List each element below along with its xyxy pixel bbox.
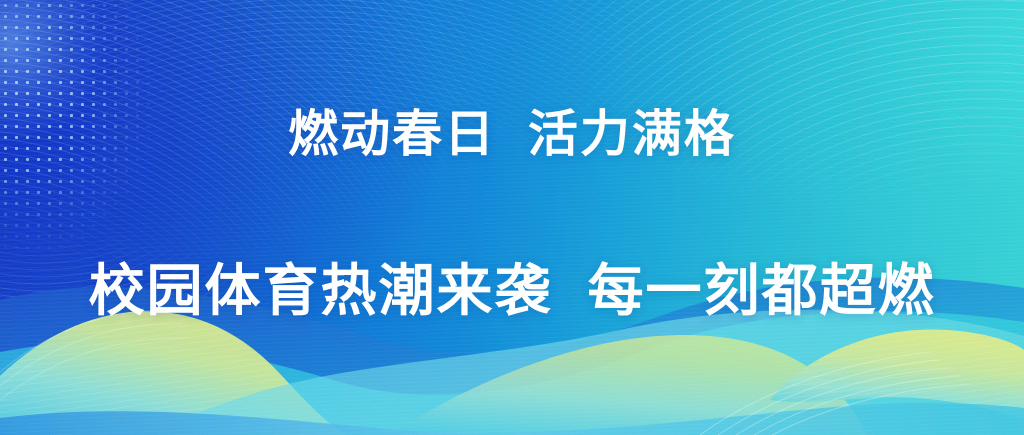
promo-banner: 燃动春日 活力满格 校园体育热潮来袭 每一刻都超燃 <box>0 0 1024 435</box>
wave-deep-blue <box>0 277 1024 435</box>
wave-decoration-group <box>0 0 1024 435</box>
wave-center-pale <box>150 310 1024 435</box>
headline-line-2: 校园体育热潮来袭 每一刻都超燃 <box>0 259 1024 323</box>
arc-lines-top-right-icon <box>0 0 1024 435</box>
headline-line-1: 燃动春日 活力满格 <box>0 106 1024 164</box>
cyan-glow <box>0 0 1024 435</box>
grain-texture <box>0 0 1024 435</box>
headline-group: 燃动春日 活力满格 校园体育热潮来袭 每一刻都超燃 <box>0 0 1024 435</box>
wave-arc-accents <box>700 352 970 435</box>
corner-glow <box>0 0 1024 435</box>
arc-lines-top-left-icon <box>0 0 1024 435</box>
wave-crest-center <box>390 335 868 435</box>
background-gradient <box>0 0 1024 435</box>
dot-matrix-icon <box>0 0 1024 435</box>
deep-blue-glow <box>0 0 1024 435</box>
wave-crest-right-texture <box>770 330 1024 420</box>
wave-bottom-band <box>0 403 1024 435</box>
wave-mid-cyan <box>0 311 1024 435</box>
scanline-texture <box>0 0 1024 435</box>
wave-crest-right <box>770 330 1024 420</box>
wave-crest-left <box>0 311 346 435</box>
arc-lines-top-center-icon <box>0 0 1024 435</box>
wave-crest-left-texture <box>0 311 346 435</box>
wave-arc-accents-left <box>0 310 188 400</box>
arc-lines-bottom-left-icon <box>0 0 1024 435</box>
